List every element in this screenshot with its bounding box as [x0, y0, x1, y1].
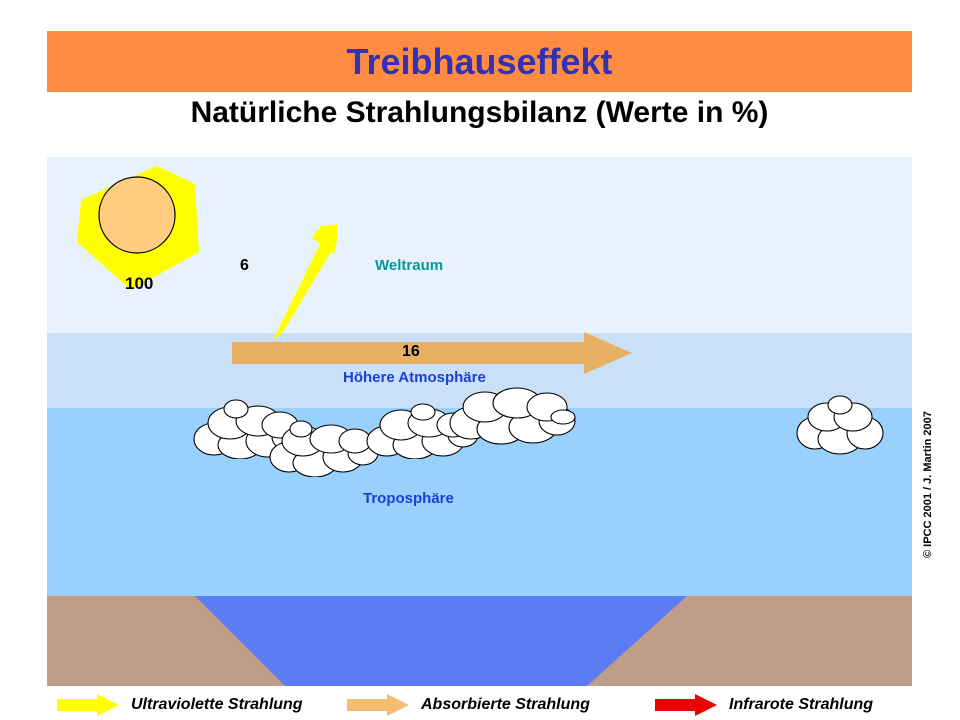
reflected-uv-value-label: 6 — [240, 257, 249, 275]
water-body-shape — [47, 596, 912, 686]
absorbed-value-label: 16 — [402, 343, 420, 361]
legend-item-ultraviolet: Ultraviolette Strahlung — [57, 690, 303, 720]
page-subtitle: Natürliche Strahlungsbilanz (Werte in %) — [47, 96, 912, 130]
legend: Ultraviolette Strahlung Absorbierte Stra… — [47, 690, 927, 720]
legend-label-ultraviolet: Ultraviolette Strahlung — [131, 696, 303, 714]
cloud-icon — [795, 393, 885, 455]
legend-label-absorbed: Absorbierte Strahlung — [421, 696, 590, 714]
label-space: Weltraum — [375, 257, 443, 274]
diagram-canvas: 100 6 16 Weltraum Höhere Atmosphäre Trop… — [47, 157, 912, 686]
copyright-notice: © IPCC 2001 / J. Martin 2007 — [922, 358, 934, 558]
cloud-icon — [269, 415, 379, 477]
label-upper-atmosphere: Höhere Atmosphäre — [343, 369, 486, 386]
label-troposphere: Troposphäre — [363, 490, 454, 507]
legend-item-absorbed: Absorbierte Strahlung — [347, 690, 590, 720]
reflected-uv-arrow-icon — [217, 222, 337, 342]
page-title: Treibhauseffekt — [47, 31, 912, 92]
arrow-right-icon — [347, 694, 409, 716]
sun-value-label: 100 — [125, 274, 153, 294]
arrow-right-icon — [57, 694, 119, 716]
arrow-right-icon — [655, 694, 717, 716]
legend-item-infrared: Infrarote Strahlung — [655, 690, 873, 720]
legend-label-infrared: Infrarote Strahlung — [729, 696, 873, 714]
header-bar: Treibhauseffekt — [47, 31, 912, 92]
cloud-icon — [447, 385, 577, 447]
